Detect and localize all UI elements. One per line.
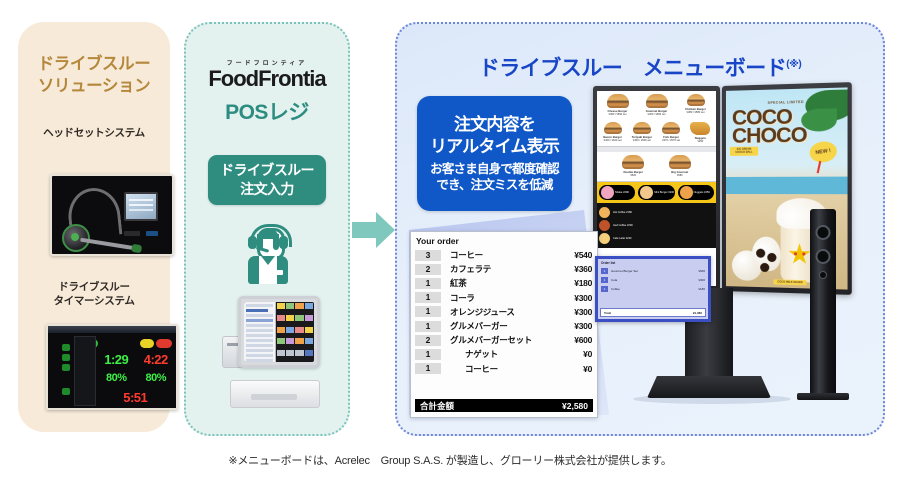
order-qty: 1 <box>415 306 441 317</box>
headset-operator-icon <box>246 220 290 284</box>
timer-total-time: 5:51 <box>117 390 153 405</box>
nuggets-icon <box>690 122 710 135</box>
featured-section: Double Burger¥520 Big Gourmet¥580 <box>597 147 716 182</box>
table-row: 2 カフェラテ ¥360 <box>411 262 597 276</box>
callout-line4: でき、注文ミスを低減 <box>436 177 552 193</box>
drive-through-timer-photo: OK 1:29 4:22 80% 80 <box>46 324 178 410</box>
left-panel-title: ドライブスルー ソリューション <box>18 54 170 98</box>
mini-order-name: Gourmet Burger Set <box>611 269 698 273</box>
order-item-name: カフェラテ <box>441 263 574 275</box>
pos-drawer-slot-icon <box>251 394 297 400</box>
order-card-header: Your order <box>411 232 597 248</box>
order-item-name: コーヒー <box>441 363 583 375</box>
mini-order-name: Cola <box>611 278 698 282</box>
pos-order-list-pane <box>244 302 276 362</box>
burger-icon <box>633 122 651 134</box>
base-station-led-icon <box>146 231 158 236</box>
drive-through-solution-panel: ドライブスルー ソリューション ヘッドセットシステム ドライブスルー タイマーシ… <box>18 22 170 432</box>
order-qty: 1 <box>415 292 441 303</box>
realtime-display-callout: 注文内容を リアルタイム表示 お客さま自身で都度確認 でき、注文ミスを低減 <box>417 96 572 211</box>
menu-board-title-mark: (※) <box>786 59 801 70</box>
timer-sidebar <box>50 338 72 406</box>
poster-tag-left: ICE CREAM CHOCO BALL <box>730 147 758 156</box>
table-row: 3 コーヒー ¥540 <box>411 248 597 262</box>
burger-icon <box>622 155 644 169</box>
menu-item: Chicken Burger¥380 / ¥580 set <box>677 94 714 117</box>
pos-register-title: POSレジ <box>186 96 348 126</box>
order-item-name: オレンジジュース <box>441 306 574 318</box>
burger-icon <box>687 94 705 106</box>
menu-board-title-text: ドライブスルー メニューボード <box>479 57 787 80</box>
order-item-price: ¥300 <box>574 321 592 331</box>
burger-icon <box>607 94 629 108</box>
drinks-row: Hot Coffee ¥180 Iced Coffee ¥200 Cafe La… <box>597 203 716 248</box>
cafe-latte-icon <box>599 233 610 244</box>
menu-item: Big Gourmet¥580 <box>658 155 703 178</box>
menu-item: Double Burger¥520 <box>611 155 656 178</box>
order-item-price: ¥0 <box>583 349 592 359</box>
operator-earcup-right-icon <box>279 236 288 249</box>
order-qty: 1 <box>415 363 441 374</box>
speaker-grille-icon <box>816 225 831 240</box>
iced-coffee-icon <box>599 220 610 231</box>
order-item-name: 紅茶 <box>441 277 574 289</box>
speaker-led-icon <box>819 271 827 279</box>
table-row: 1 オレンジジュース ¥300 <box>411 305 597 319</box>
order-item-name: コーラ <box>441 292 574 304</box>
mini-burger-icon <box>640 186 653 199</box>
timer-right-percent: 80% <box>138 372 174 384</box>
poster-tag-bottom: COCO MILK SHAKE <box>774 279 807 285</box>
drink-item: Iced Coffee ¥200 <box>599 219 714 232</box>
order-item-price: ¥600 <box>574 335 592 345</box>
burger-icon <box>646 94 668 108</box>
pos-touch-screen <box>238 296 320 368</box>
callout-line3: お客さま自身で都度確認 <box>430 161 559 177</box>
post-base-plate <box>797 393 849 400</box>
timer-pill-4 <box>62 388 70 395</box>
drive-through-order-entry-button[interactable]: ドライブスルー 注文入力 <box>208 155 326 205</box>
timer-titlebar <box>48 326 176 333</box>
base-station-button-icon <box>124 231 140 236</box>
menu-item: Bacon Burger¥420 / ¥620 set <box>599 122 626 144</box>
menu-item: Fish Burger¥370 / ¥570 set <box>658 122 685 144</box>
mini-order-total: Total ¥1,080 <box>600 308 706 317</box>
callout-line1: 注文内容を <box>454 114 535 136</box>
left-panel-title-line2: ソリューション <box>18 76 170 98</box>
order-item-price: ¥300 <box>574 307 592 317</box>
order-qty: 2 <box>415 264 441 275</box>
timer-left-time: 1:29 <box>98 352 134 367</box>
order-qty: 1 <box>415 278 441 289</box>
burgers-row-2: Bacon Burger¥420 / ¥620 set Teriyaki Bur… <box>597 120 716 146</box>
left-panel-title-line1: ドライブスルー <box>18 54 170 76</box>
poster-eyebrow: SPECIAL LIMITED <box>768 100 804 105</box>
pos-register-terminal-photo <box>222 296 318 408</box>
order-qty: 3 <box>415 250 441 261</box>
timer-pill-1 <box>62 344 70 351</box>
order-total-value: ¥2,580 <box>562 401 588 411</box>
menu-item: Nuggets¥250 <box>687 122 714 144</box>
speaker-grille-icon <box>816 249 831 264</box>
order-qty: 1 <box>415 321 441 332</box>
timer-system-label-line1: ドライブスルー <box>18 280 170 294</box>
mini-order-row: 1 Cola ¥300 <box>598 275 708 284</box>
table-row: 1 コーラ ¥300 <box>411 291 597 305</box>
operator-name-tag-icon <box>271 270 283 275</box>
order-item-price: ¥0 <box>583 364 592 374</box>
burger-icon <box>662 122 680 134</box>
promo-row: Shake ¥290 Mini Burger ¥200 Nuggets ¥250 <box>597 182 716 203</box>
timer-system-label: ドライブスルー タイマーシステム <box>18 280 170 308</box>
menu-item: Teriyaki Burger¥400 / ¥600 set <box>628 122 655 144</box>
drink-item: Hot Coffee ¥180 <box>599 206 714 219</box>
mini-order-price: ¥600 <box>698 269 705 273</box>
order-item-price: ¥180 <box>574 278 592 288</box>
order-entry-button-line2: 注文入力 <box>240 180 294 199</box>
order-total-label: 合計金額 <box>420 400 454 412</box>
order-qty: 2 <box>415 335 441 346</box>
mini-order-qty: 1 <box>601 277 608 283</box>
table-row: 1 ナゲット ¥0 <box>411 347 597 361</box>
order-item-name: ナゲット <box>441 348 583 360</box>
burgers-row-1: Cheese Burger¥390 / ¥590 set Gourmet Bur… <box>597 91 716 120</box>
timer-metrics-grid: 1:29 4:22 80% 80% 5:51 <box>98 352 174 406</box>
menu-board-panel: ドライブスルー メニューボード(※) 注文内容を リアルタイム表示 お客さま自身… <box>395 22 885 436</box>
mini-order-price: ¥300 <box>698 278 705 282</box>
mini-order-qty: 1 <box>601 286 608 292</box>
mini-order-screen: Order list 1 Gourmet Burger Set ¥600 1 C… <box>595 256 711 322</box>
timer-pill-2 <box>62 354 70 361</box>
table-row: 2 グルメバーガーセット ¥600 <box>411 333 597 347</box>
timer-left-percent: 80% <box>98 372 134 384</box>
customer-order-card: Your order 3 コーヒー ¥540 2 カフェラテ ¥360 1 紅茶… <box>410 231 598 418</box>
mini-order-total-value: ¥1,080 <box>693 311 702 315</box>
pos-register-panel: フードフロンティア FoodFrontia POSレジ ドライブスルー 注文入力 <box>184 22 350 436</box>
headset-base-station-photo <box>50 174 174 256</box>
speaker-post-tower <box>810 209 836 397</box>
nuggets-icon <box>680 186 693 199</box>
hot-coffee-icon <box>599 207 610 218</box>
mini-order-row: 1 Gourmet Burger Set ¥600 <box>598 266 708 275</box>
timer-badge-warn <box>140 339 154 348</box>
footnote-text: ※メニューボードは、Acrelec Group S.A.S. が製造し、グローリ… <box>0 452 900 468</box>
mini-order-total-label: Total <box>604 311 611 315</box>
order-total-row: 合計金額 ¥2,580 <box>415 399 593 412</box>
table-row: 1 紅茶 ¥180 <box>411 276 597 290</box>
timer-badge-alert <box>156 339 172 348</box>
order-entry-button-line1: ドライブスルー <box>220 161 314 180</box>
callout-line2: リアルタイム表示 <box>430 136 559 158</box>
mini-order-price: ¥180 <box>698 287 705 291</box>
featured-row: Double Burger¥520 Big Gourmet¥580 <box>597 152 716 181</box>
drink-item: Cafe Latte ¥230 <box>599 232 714 245</box>
timer-pill-3 <box>62 364 70 371</box>
order-item-name: グルメバーガー <box>441 320 574 332</box>
menu-item: Gourmet Burger¥450 / ¥650 set <box>638 94 675 117</box>
burger-icon <box>604 122 622 134</box>
menu-item: Cheese Burger¥390 / ¥590 set <box>599 94 636 117</box>
promo-item: Shake ¥290 <box>599 185 635 200</box>
order-item-price: ¥540 <box>574 250 592 260</box>
flow-arrow-right <box>352 211 396 249</box>
choco-cream-icon <box>752 236 781 271</box>
pos-cash-drawer <box>230 380 320 408</box>
mini-order-row: 1 Coffee ¥180 <box>598 284 708 293</box>
infographic-canvas: ドライブスルー ソリューション ヘッドセットシステム ドライブスルー タイマーシ… <box>0 0 900 490</box>
order-item-name: コーヒー <box>441 249 574 261</box>
promo-item: Nuggets ¥250 <box>678 185 714 200</box>
promo-item: Mini Burger ¥200 <box>638 185 674 200</box>
mini-order-qty: 1 <box>601 268 608 274</box>
order-item-price: ¥360 <box>574 264 592 274</box>
order-qty: 1 <box>415 349 441 360</box>
mini-order-name: Coffee <box>611 287 698 291</box>
order-item-price: ¥300 <box>574 293 592 303</box>
order-item-name: グルメバーガーセット <box>441 334 574 346</box>
timer-right-time: 4:22 <box>138 352 174 367</box>
burger-icon <box>669 155 691 169</box>
timer-system-label-line2: タイマーシステム <box>18 294 170 308</box>
headset-system-label: ヘッドセットシステム <box>18 126 170 140</box>
burgers-section-1: Cheese Burger¥390 / ¥590 set Gourmet Bur… <box>597 91 716 147</box>
menu-board-title: ドライブスルー メニューボード(※) <box>397 52 883 82</box>
shake-icon <box>601 186 614 199</box>
base-station-lcd-icon <box>124 192 158 221</box>
table-row: 1 コーヒー ¥0 <box>411 362 597 376</box>
pos-screen-content <box>244 302 314 362</box>
foodfrontia-logo: FoodFrontia <box>186 66 348 92</box>
table-row: 1 グルメバーガー ¥300 <box>411 319 597 333</box>
poster-title-line2: CHOCO <box>732 123 807 148</box>
pedestal-base <box>647 376 771 398</box>
new-badge: NEW ! <box>808 140 838 164</box>
sea-background <box>726 176 848 194</box>
timer-lane-column <box>74 336 96 406</box>
pos-menu-key-pane <box>276 302 314 362</box>
mini-order-header: Order list <box>598 259 708 266</box>
